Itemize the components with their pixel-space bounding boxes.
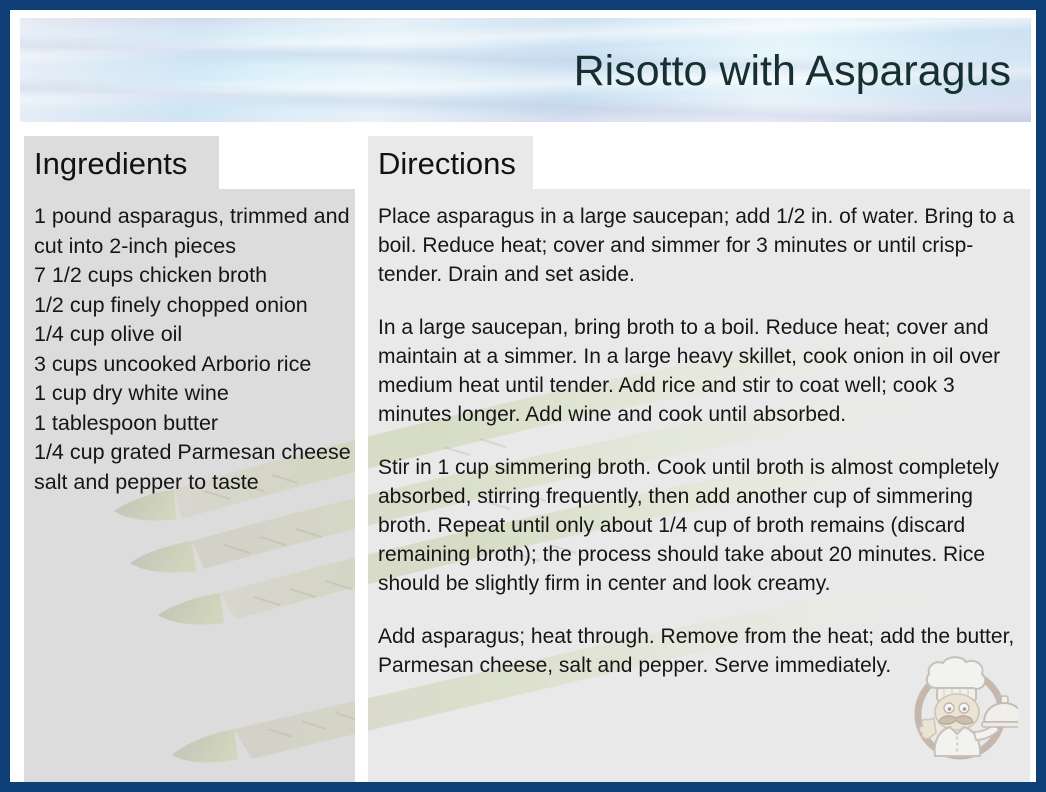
list-item: 1 cup dry white wine: [34, 379, 354, 409]
list-item: 3 cups uncooked Arborio rice: [34, 350, 354, 380]
list-item: 1/2 cup finely chopped onion: [34, 291, 354, 321]
list-item: 1/4 cup grated Parmesan cheese: [34, 438, 354, 468]
recipe-title: Risotto with Asparagus: [574, 46, 1011, 96]
header-banner: Risotto with Asparagus: [20, 18, 1031, 122]
directions-text: Place asparagus in a large saucepan; add…: [378, 202, 1022, 680]
list-item: 7 1/2 cups chicken broth: [34, 261, 354, 291]
list-item: 1 pound asparagus, trimmed and cut into …: [34, 202, 354, 261]
directions-tab-label: Directions: [378, 146, 516, 181]
directions-paragraph: Stir in 1 cup simmering broth. Cook unti…: [378, 453, 1022, 598]
ingredients-tab-label: Ingredients: [34, 146, 187, 181]
list-item: 1/4 cup olive oil: [34, 320, 354, 350]
directions-paragraph: In a large saucepan, bring broth to a bo…: [378, 313, 1022, 429]
chef-mascot-logo: [902, 648, 1018, 764]
list-item: 1 tablespoon butter: [34, 409, 354, 439]
recipe-card: Risotto with Asparagus: [0, 0, 1046, 792]
directions-tab: Directions: [368, 136, 533, 189]
ingredients-tab: Ingredients: [24, 136, 219, 189]
list-item: salt and pepper to taste: [34, 468, 354, 498]
ingredients-list: 1 pound asparagus, trimmed and cut into …: [34, 202, 354, 497]
directions-paragraph: Place asparagus in a large saucepan; add…: [378, 202, 1022, 289]
